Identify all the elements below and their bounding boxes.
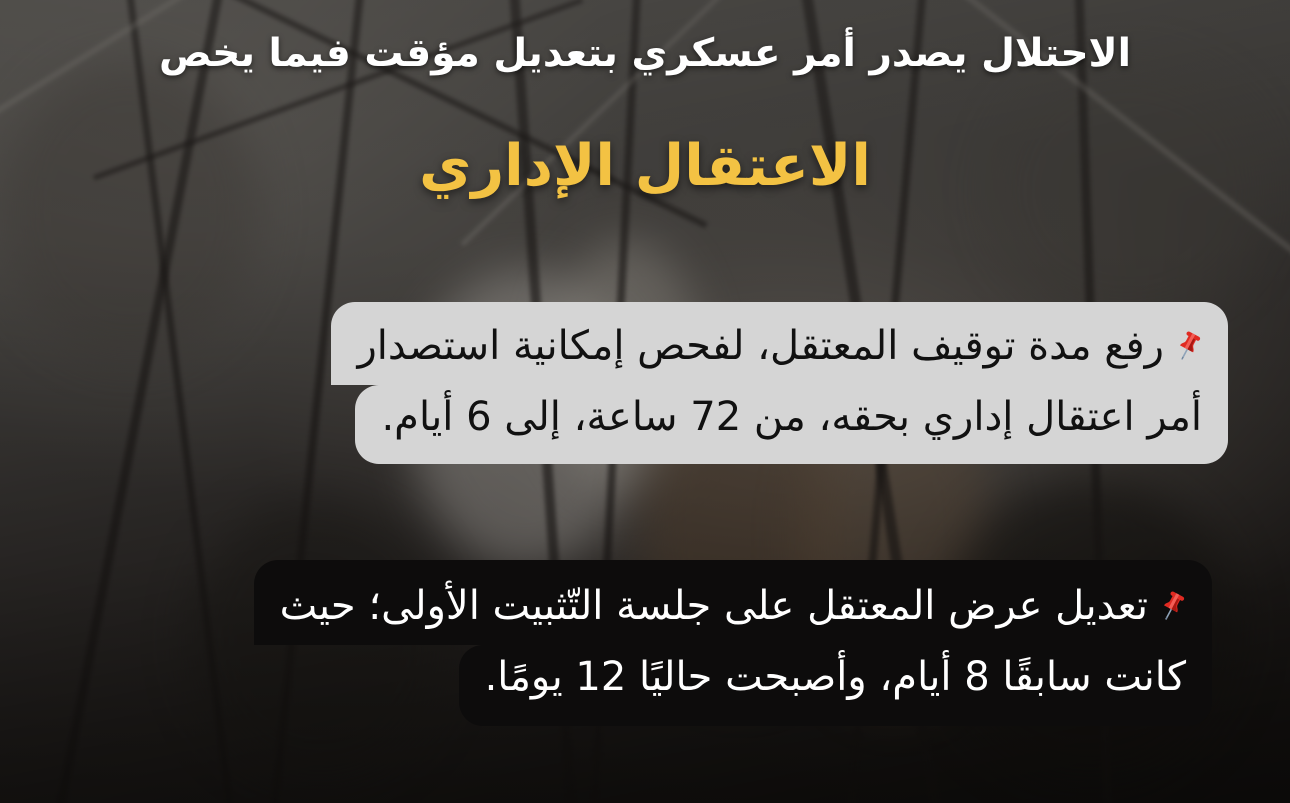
- info-card-one-text-1: رفع مدة توقيف المعتقل، لفحص إمكانية استص…: [357, 323, 1164, 369]
- info-card-one-line-2: أمر اعتقال إداري بحقه، من 72 ساعة، إلى 6…: [355, 385, 1228, 464]
- info-card-one-line-1: رفع مدة توقيف المعتقل، لفحص إمكانية استص…: [331, 302, 1228, 385]
- poster-canvas: الاحتلال يصدر أمر عسكري بتعديل مؤقت فيما…: [0, 0, 1290, 803]
- info-card-two: تعديل عرض المعتقل على جلسة التّثبيت الأو…: [100, 560, 1212, 726]
- info-card-two-line-1: تعديل عرض المعتقل على جلسة التّثبيت الأو…: [254, 560, 1212, 645]
- info-card-one: رفع مدة توقيف المعتقل، لفحص إمكانية استص…: [100, 302, 1228, 464]
- poster-headline: الاحتلال يصدر أمر عسكري بتعديل مؤقت فيما…: [70, 30, 1220, 79]
- info-card-two-text-1: تعديل عرض المعتقل على جلسة التّثبيت الأو…: [280, 583, 1148, 629]
- pushpin-icon: [1168, 328, 1202, 362]
- poster-content: الاحتلال يصدر أمر عسكري بتعديل مؤقت فيما…: [0, 0, 1290, 803]
- poster-subheadline: الاعتقال الإداري: [70, 132, 1220, 200]
- info-card-two-line-2: كانت سابقًا 8 أيام، وأصبحت حاليًا 12 يوم…: [459, 645, 1212, 726]
- pushpin-icon: [1152, 588, 1186, 622]
